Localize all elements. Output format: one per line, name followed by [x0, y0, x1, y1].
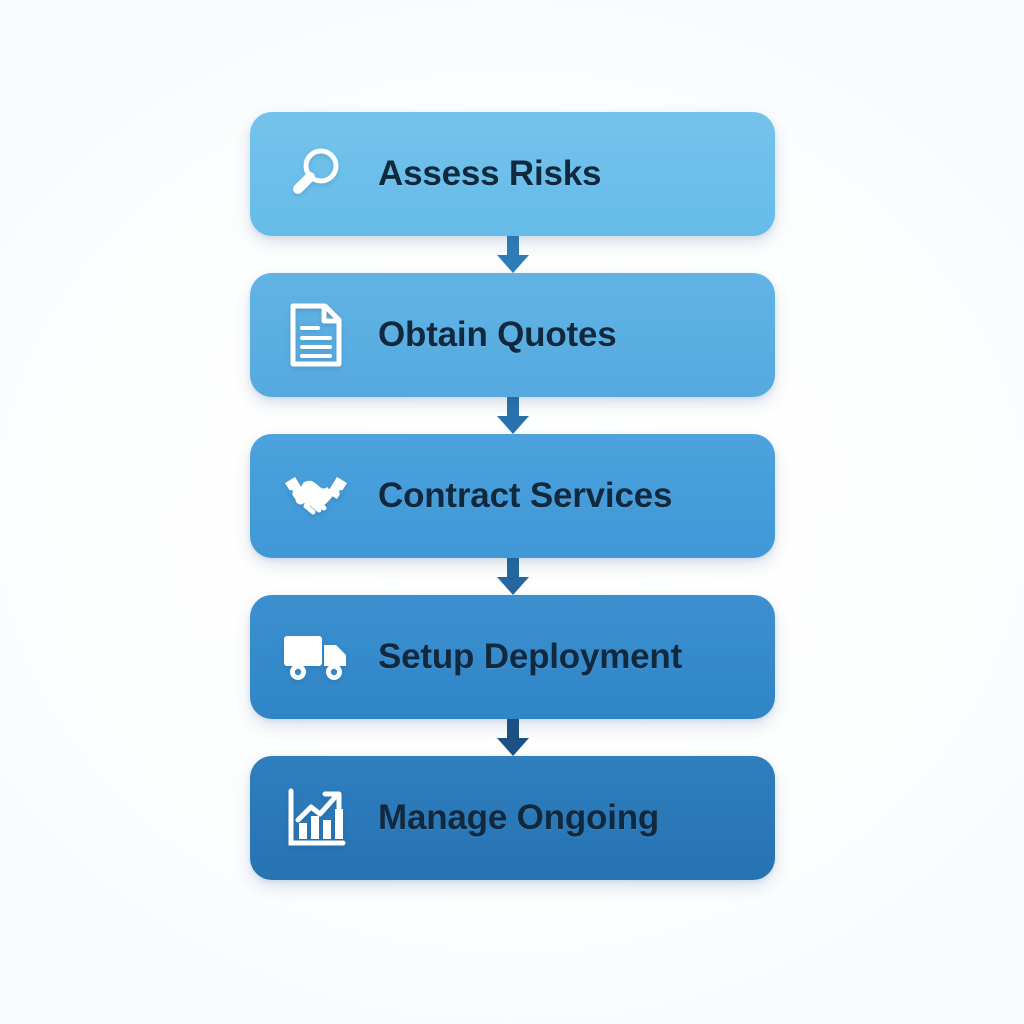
flow-arrow-1 [250, 236, 775, 273]
process-step-label: Assess Risks [378, 154, 601, 194]
growth-chart-icon [282, 784, 350, 852]
flow-arrow-2 [250, 397, 775, 434]
process-step-label: Contract Services [378, 476, 672, 516]
delivery-truck-icon [282, 623, 350, 691]
flow-arrow-3 [250, 558, 775, 595]
magnifying-glass-icon [282, 140, 350, 208]
process-step-contract-services[interactable]: Contract Services [250, 434, 775, 558]
process-step-label: Setup Deployment [378, 637, 682, 677]
handshake-icon [282, 462, 350, 530]
process-step-manage-ongoing[interactable]: Manage Ongoing [250, 756, 775, 880]
process-step-label: Manage Ongoing [378, 798, 659, 838]
document-icon [282, 301, 350, 369]
flowchart-canvas: Assess Risks Obtain Quotes [0, 0, 1024, 1024]
process-step-list: Assess Risks Obtain Quotes [250, 112, 775, 880]
process-step-setup-deployment[interactable]: Setup Deployment [250, 595, 775, 719]
process-step-obtain-quotes[interactable]: Obtain Quotes [250, 273, 775, 397]
process-step-label: Obtain Quotes [378, 315, 617, 355]
process-step-assess-risks[interactable]: Assess Risks [250, 112, 775, 236]
flow-arrow-4 [250, 719, 775, 756]
